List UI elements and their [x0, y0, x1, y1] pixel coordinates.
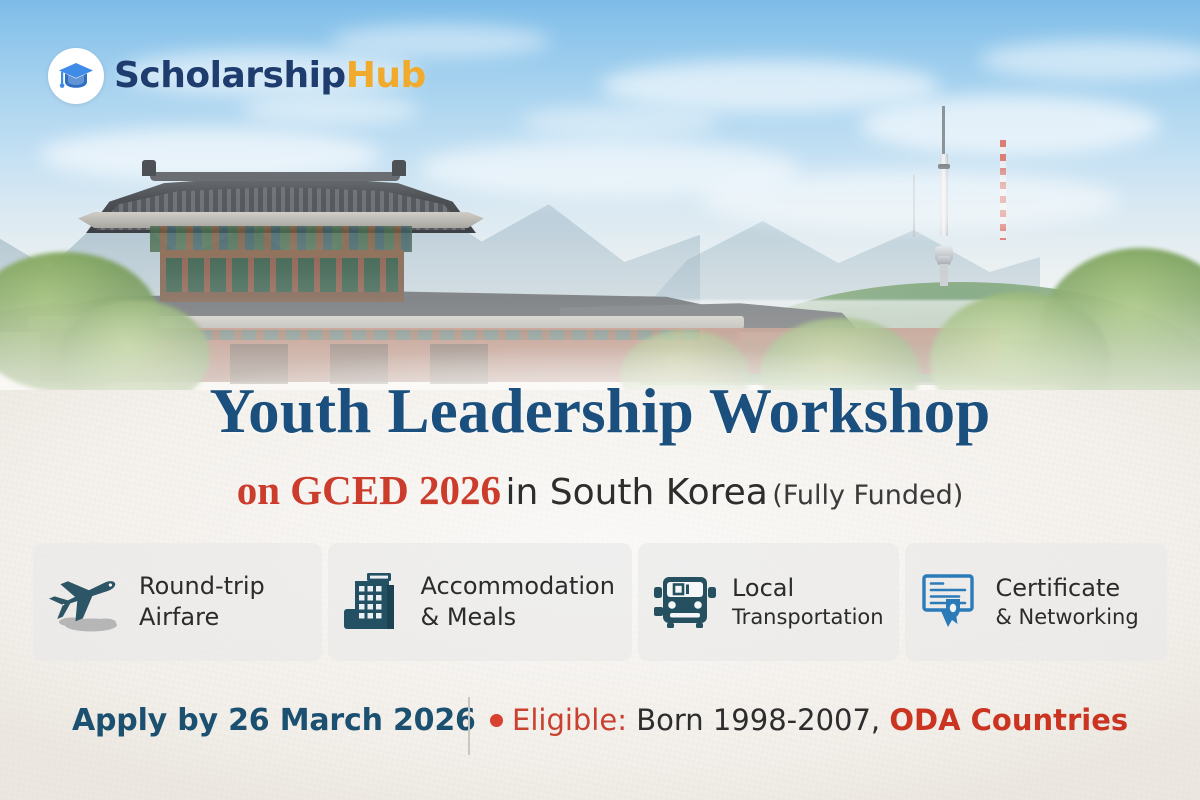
page-subtitle: on GCED 2026 in South Korea (Fully Funde… — [0, 470, 1200, 511]
benefit-line2: & Meals — [420, 602, 614, 633]
logo-wordmark: ScholarshipHub — [114, 58, 426, 94]
red-dot-icon — [490, 714, 503, 727]
cloud-decor — [700, 170, 1120, 230]
footer-divider — [468, 697, 470, 755]
graduation-cap-icon — [58, 61, 94, 91]
benefit-line1: Local — [732, 573, 884, 604]
benefit-line1: Accommodation — [420, 571, 614, 602]
subtitle-location: in South Korea — [505, 472, 767, 513]
benefit-label-accommodation: Accommodation & Meals — [420, 571, 614, 633]
benefit-line2: Airfare — [139, 602, 265, 633]
subtitle-funding-note: (Fully Funded) — [772, 480, 963, 511]
bus-icon — [652, 573, 718, 631]
logo-text-scholarship: Scholarship — [114, 55, 346, 96]
page-title: Youth Leadership Workshop — [0, 378, 1200, 444]
benefit-line1: Certificate — [995, 573, 1138, 604]
logo-text-hub: Hub — [346, 55, 426, 96]
eligible-label: Eligible: — [512, 703, 627, 737]
airplane-icon — [47, 569, 125, 635]
benefit-label-certificate: Certificate & Networking — [995, 573, 1138, 631]
benefit-card-airfare[interactable]: Round-trip Airfare — [33, 543, 322, 661]
benefit-label-airfare: Round-trip Airfare — [139, 571, 265, 633]
eligible-countries: ODA Countries — [889, 703, 1128, 737]
scholarship-poster: ScholarshipHub Youth Leadership Workshop… — [0, 0, 1200, 800]
benefit-label-transportation: Local Transportation — [732, 573, 884, 631]
brand-logo[interactable]: ScholarshipHub — [48, 48, 426, 104]
benefit-card-accommodation[interactable]: Accommodation & Meals — [328, 543, 631, 661]
subtitle-program: on GCED 2026 — [237, 467, 501, 513]
benefit-card-certificate[interactable]: Certificate & Networking — [905, 543, 1167, 661]
cloud-decor — [860, 95, 1160, 155]
benefit-line1: Round-trip — [139, 571, 265, 602]
eligible-birth-years: Born 1998-2007, — [636, 703, 880, 737]
building-icon — [342, 571, 406, 633]
logo-badge — [48, 48, 104, 104]
eligibility-text: Eligible: Born 1998-2007, ODA Countries — [490, 706, 1128, 735]
benefit-card-transportation[interactable]: Local Transportation — [638, 543, 900, 661]
benefit-line2: & Networking — [995, 604, 1138, 631]
deadline-text: Apply by 26 March 2026 — [72, 703, 476, 738]
benefit-line2: Transportation — [732, 604, 884, 631]
certificate-icon — [919, 571, 981, 633]
benefits-list: Round-trip Airfare — [33, 543, 1167, 661]
